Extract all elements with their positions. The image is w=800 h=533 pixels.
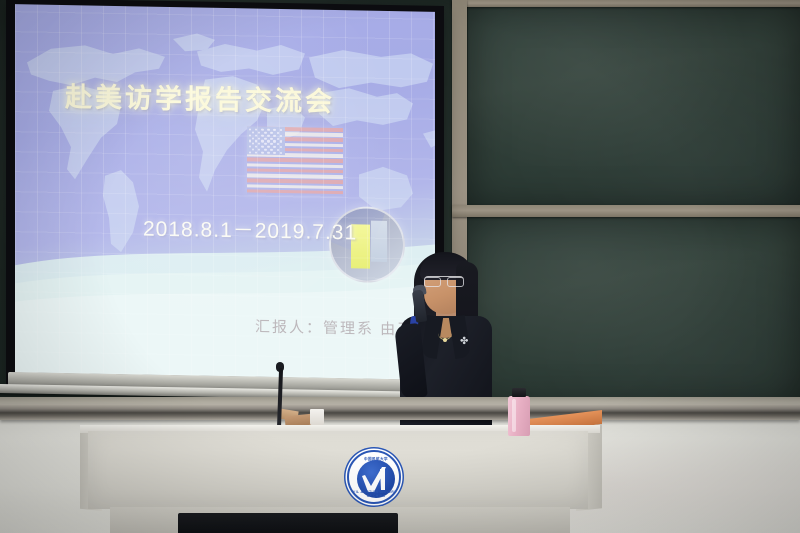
flag-star [255, 151, 257, 153]
flag-star [270, 149, 272, 151]
flag-star [258, 143, 260, 145]
flag-star [252, 131, 254, 133]
blackboard-upper-right [468, 4, 800, 210]
flag-star [249, 134, 251, 136]
us-flag-image [247, 126, 343, 196]
slide-title: 赴美访学报告交流会 [65, 75, 335, 119]
slide-presenter-line: 汇报人：管理系 由王 [255, 316, 414, 340]
flag-star [255, 129, 257, 131]
flag-star [280, 129, 282, 131]
slide-date-range: 2018.8.1－2019.7.31 [143, 212, 357, 246]
flag-star [264, 132, 266, 134]
flag-star [255, 146, 257, 148]
water-bottle-highlight [512, 399, 516, 432]
flag-star [258, 148, 260, 150]
lecture-hall-scene: 赴美访学报告交流会 2018.8.1－2019.7.31 汇报人：管理系 由王 [0, 0, 800, 533]
flag-star [261, 134, 263, 136]
flag-star [252, 137, 254, 139]
flag-star [261, 151, 263, 153]
flag-star [252, 148, 254, 150]
ledge-paper-cup [310, 409, 324, 425]
flag-star [280, 152, 282, 154]
flag-star [249, 140, 251, 142]
flag-star [261, 146, 263, 148]
flag-star [249, 145, 251, 147]
flag-star [267, 134, 269, 136]
lectern-monitor[interactable] [178, 513, 398, 533]
flag-star [273, 152, 275, 154]
flag-star [280, 140, 282, 142]
flag-star [249, 151, 251, 153]
flag-star [273, 135, 275, 137]
flag-star [280, 146, 282, 148]
flag-star [255, 134, 257, 136]
flag-star [277, 132, 279, 134]
flag-star [277, 143, 279, 145]
projection-screen: 赴美访学报告交流会 2018.8.1－2019.7.31 汇报人：管理系 由王 [6, 0, 444, 398]
flag-star [267, 151, 269, 153]
flag-star [277, 137, 279, 139]
flag-star [277, 149, 279, 151]
flag-star [255, 140, 257, 142]
flag-star [273, 146, 275, 148]
chalk-rail [0, 404, 800, 420]
flag-star [270, 137, 272, 139]
blackboard-lower-right [468, 216, 800, 408]
flag-star [252, 143, 254, 145]
flag-star [249, 128, 251, 130]
slide-surface: 赴美访学报告交流会 2018.8.1－2019.7.31 汇报人：管理系 由王 [15, 4, 435, 380]
glasses-icon [424, 276, 464, 285]
flag-star [261, 129, 263, 131]
university-seal: 中国民航大学 CIVIL AVIATION UNIVERSITY OF CHIN… [347, 450, 401, 504]
flag-star [264, 149, 266, 151]
flag-star [267, 140, 269, 142]
flag-star [261, 140, 263, 142]
flag-star [280, 135, 282, 137]
flag-star [267, 129, 269, 131]
water-bottle-cap [512, 388, 526, 397]
flag-star [258, 131, 260, 133]
flag-star [270, 132, 272, 134]
flag-star [273, 129, 275, 131]
flag-star [264, 137, 266, 139]
flag-star [273, 140, 275, 142]
flag-star [258, 137, 260, 139]
flag-star [264, 143, 266, 145]
blackboard-frame-top [452, 0, 800, 7]
lectern-front-panel [88, 431, 588, 509]
flag-star [270, 143, 272, 145]
flag-star [267, 146, 269, 148]
lectern [80, 425, 600, 533]
seal-english-text: CIVIL AVIATION UNIVERSITY OF CHINA [349, 490, 401, 498]
blackboard-frame-horizontal [452, 205, 800, 217]
flag-canton [247, 126, 285, 155]
brooch-icon [460, 340, 469, 353]
water-bottle [508, 388, 530, 436]
